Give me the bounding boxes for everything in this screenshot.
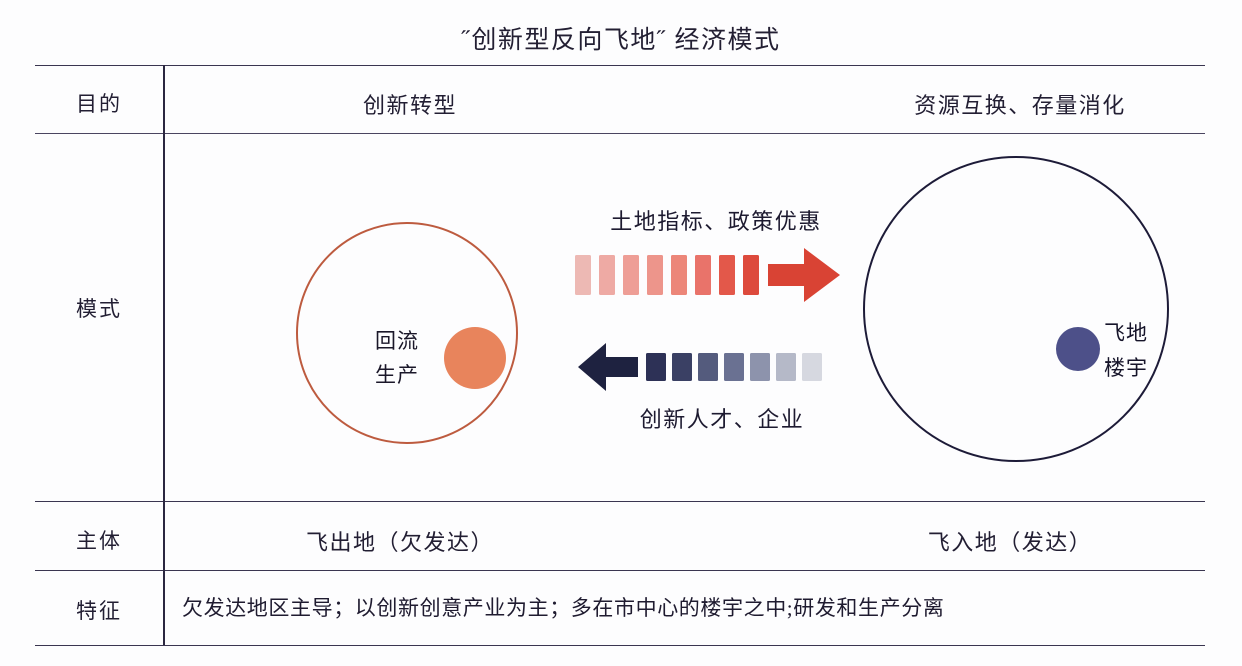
- page-title: ˝创新型反向飞地˝ 经济模式: [0, 20, 1242, 56]
- arrow-bottom-label: 创新人才、企业: [572, 402, 872, 434]
- inflow-region-circle: [863, 156, 1169, 462]
- table-column-divider: [163, 65, 165, 645]
- arrow-top-segment: [575, 255, 591, 295]
- diagram-page: ˝创新型反向飞地˝ 经济模式 目的 模式 主体 特征 创新转型 资源互换、存量消…: [0, 0, 1242, 666]
- purpose-value-right: 资源互换、存量消化: [820, 88, 1220, 120]
- arrow-bottom-segment: [646, 353, 666, 381]
- return-production-dot: [444, 327, 506, 389]
- arrow-bottom-segment: [776, 353, 796, 381]
- arrow-top-segment: [623, 255, 639, 295]
- arrow-bottom-segment: [802, 353, 822, 381]
- arrow-bottom-segment: [750, 353, 770, 381]
- enclave-building-label-line2: 楼宇: [1104, 351, 1178, 386]
- arrow-top-segment: [743, 255, 759, 295]
- return-production-label-line1: 回流: [362, 324, 432, 358]
- subject-value-right: 飞入地（发达）: [810, 525, 1210, 557]
- enclave-building-label: 飞地 楼宇: [1104, 316, 1178, 386]
- arrow-bottom-head: [578, 343, 638, 391]
- purpose-value-left: 创新转型: [210, 88, 610, 120]
- arrow-top-segment: [647, 255, 663, 295]
- arrow-bottom-segment: [724, 353, 744, 381]
- feature-value: 欠发达地区主导；以创新创意产业为主；多在市中心的楼宇之中;研发和生产分离: [182, 592, 1192, 622]
- arrow-top-segment: [671, 255, 687, 295]
- arrow-top-segment: [599, 255, 615, 295]
- table-rule-bottom: [35, 645, 1205, 646]
- arrow-top-segment: [719, 255, 735, 295]
- row-label-subject: 主体: [35, 525, 163, 555]
- arrow-bottom-segment: [698, 353, 718, 381]
- table-rule-subject-bottom: [35, 570, 1205, 571]
- enclave-building-dot: [1056, 327, 1100, 371]
- subject-value-left: 飞出地（欠发达）: [200, 525, 600, 557]
- table-rule-purpose-bottom: [35, 133, 1205, 134]
- arrow-top-head: [768, 248, 840, 302]
- table-rule-top: [35, 65, 1205, 66]
- table-rule-mode-bottom: [35, 501, 1205, 502]
- row-label-feature: 特征: [35, 595, 163, 625]
- arrow-top-label: 土地指标、政策优惠: [566, 204, 866, 236]
- row-label-purpose: 目的: [35, 88, 163, 118]
- mode-diagram: 回流 生产 飞地 楼宇 土地指标、政策优惠 创新人才、企业: [166, 136, 1205, 501]
- return-production-label-line2: 生产: [362, 358, 432, 392]
- arrow-left-icon: [576, 342, 838, 400]
- arrow-right-icon: [572, 246, 844, 304]
- enclave-building-label-line1: 飞地: [1104, 316, 1178, 351]
- arrow-top-segment: [695, 255, 711, 295]
- row-label-mode: 模式: [35, 293, 163, 323]
- return-production-label: 回流 生产: [362, 324, 432, 392]
- arrow-bottom-segment: [672, 353, 692, 381]
